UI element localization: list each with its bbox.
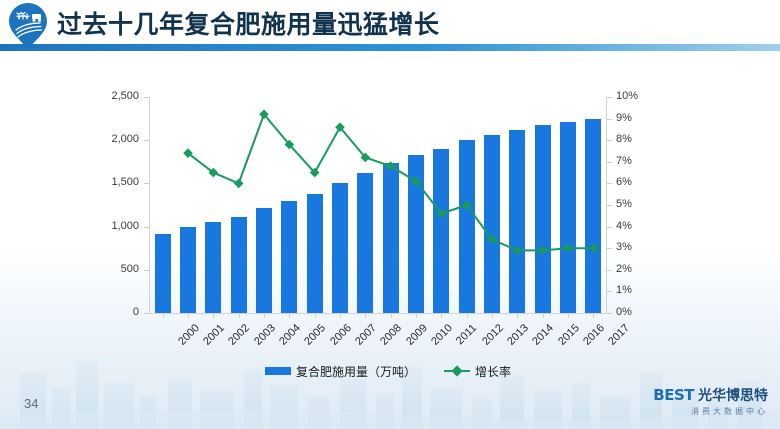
left-axis-tick — [144, 227, 149, 228]
right-axis-tick-label: 5% — [616, 198, 656, 210]
category-label-2014: 2014 — [530, 322, 556, 348]
brand-subtitle: 消费大数据中心 — [691, 406, 768, 417]
right-axis-tick-label: 0% — [616, 306, 656, 318]
right-axis-tick — [607, 291, 612, 292]
category-label-2001: 2001 — [201, 322, 227, 348]
category-label-2009: 2009 — [404, 322, 430, 348]
bar-2005 — [281, 201, 297, 313]
left-axis-tick — [144, 270, 149, 271]
category-label-2007: 2007 — [353, 322, 379, 348]
bar-2013 — [484, 135, 500, 313]
chart-plot-area: 05001,0001,5002,0002,500 0%1%2%3%4%5%6%7… — [88, 80, 688, 390]
right-axis-tick — [607, 227, 612, 228]
legend-label-volume: 复合肥施用量（万吨） — [296, 363, 416, 380]
category-tick — [492, 314, 493, 318]
category-tick — [467, 314, 468, 318]
category-tick — [593, 314, 594, 318]
left-axis-tick-label: 1,500 — [93, 176, 139, 188]
right-axis-tick — [607, 183, 612, 184]
right-axis-tick-label: 7% — [616, 155, 656, 167]
right-axis-tick — [607, 119, 612, 120]
bar-2002 — [205, 222, 221, 313]
right-axis-tick-label: 6% — [616, 176, 656, 188]
category-label-2002: 2002 — [226, 322, 252, 348]
left-axis-tick-label: 2,500 — [93, 90, 139, 102]
category-label-2008: 2008 — [378, 322, 404, 348]
category-tick — [391, 314, 392, 318]
page-title: 过去十几年复合肥施用量迅猛增长 — [57, 5, 440, 41]
bar-2003 — [231, 217, 247, 313]
right-axis-tick-label: 3% — [616, 241, 656, 253]
left-axis-tick-label: 0 — [93, 306, 139, 318]
left-axis-tick-label: 500 — [93, 263, 139, 275]
category-label-2000: 2000 — [176, 322, 202, 348]
right-axis-tick-label: 2% — [616, 263, 656, 275]
right-axis-tick — [607, 140, 612, 141]
right-axis-tick-label: 1% — [616, 284, 656, 296]
category-tick — [568, 314, 569, 318]
page-number: 34 — [24, 396, 38, 411]
bar-2001 — [180, 227, 196, 313]
legend-item-volume[interactable]: 复合肥施用量（万吨） — [265, 363, 416, 380]
bar-2007 — [332, 183, 348, 313]
right-axis-tick — [607, 270, 612, 271]
category-tick — [416, 314, 417, 318]
legend-label-growth-rate: 增长率 — [475, 363, 511, 380]
category-tick — [365, 314, 366, 318]
bar-2017 — [585, 119, 601, 313]
brand-logo: BEST 光华博思特 消费大数据中心 — [653, 385, 768, 417]
bar-2008 — [357, 173, 373, 313]
bar-swatch-icon — [265, 367, 291, 375]
bar-2000 — [155, 234, 171, 313]
category-label-2005: 2005 — [302, 322, 328, 348]
right-axis-tick-label: 10% — [616, 90, 656, 102]
left-axis-tick — [144, 183, 149, 184]
bar-2004 — [256, 208, 272, 313]
left-axis-tick-label: 1,000 — [93, 220, 139, 232]
category-tick — [289, 314, 290, 318]
category-label-2012: 2012 — [480, 322, 506, 348]
bar-2016 — [560, 122, 576, 313]
category-tick — [517, 314, 518, 318]
header-divider — [0, 44, 780, 51]
bar-series-layer — [150, 97, 606, 313]
category-label-2013: 2013 — [505, 322, 531, 348]
category-label-2010: 2010 — [429, 322, 455, 348]
category-label-2004: 2004 — [277, 322, 303, 348]
left-axis-tick-label: 2,000 — [93, 133, 139, 145]
category-tick — [543, 314, 544, 318]
bar-2015 — [535, 125, 551, 313]
chart-legend: 复合肥施用量（万吨） 增长率 — [88, 360, 688, 382]
category-tick — [188, 314, 189, 318]
right-axis-tick-label: 4% — [616, 220, 656, 232]
legend-item-growth-rate[interactable]: 增长率 — [444, 363, 511, 380]
brand-mark: BEST — [653, 386, 694, 404]
left-axis-tick — [144, 97, 149, 98]
category-label-2017: 2017 — [606, 322, 632, 348]
line-diamond-swatch-icon — [444, 367, 470, 375]
category-label-2003: 2003 — [252, 322, 278, 348]
category-tick — [264, 314, 265, 318]
left-axis-tick — [144, 313, 149, 314]
category-tick — [239, 314, 240, 318]
brand-name: 光华博思特 — [698, 385, 768, 405]
right-axis-tick — [607, 313, 612, 314]
slide-header: 过去十几年复合肥施用量迅猛增长 — [0, 0, 780, 52]
category-tick — [340, 314, 341, 318]
bar-2010 — [408, 155, 424, 313]
bar-2014 — [509, 130, 525, 313]
bar-2011 — [433, 149, 449, 313]
bar-2006 — [307, 194, 323, 313]
category-label-2006: 2006 — [328, 322, 354, 348]
right-axis-tick — [607, 248, 612, 249]
bar-2009 — [383, 163, 399, 313]
right-axis-tick — [607, 97, 612, 98]
category-axis-line — [149, 313, 607, 314]
right-axis-tick — [607, 162, 612, 163]
farm-location-pin-icon — [6, 2, 50, 50]
right-axis-tick-label: 8% — [616, 133, 656, 145]
category-tick — [315, 314, 316, 318]
category-tick — [213, 314, 214, 318]
slide-canvas: 过去十几年复合肥施用量迅猛增长 05001,0001,5002,0002,500… — [0, 0, 780, 429]
bar-2012 — [459, 140, 475, 313]
right-axis-tick-label: 9% — [616, 112, 656, 124]
category-label-2015: 2015 — [556, 322, 582, 348]
category-tick — [441, 314, 442, 318]
category-tick — [163, 314, 164, 318]
category-label-2016: 2016 — [581, 322, 607, 348]
category-label-2011: 2011 — [454, 322, 479, 347]
right-axis-tick — [607, 205, 612, 206]
left-axis-tick — [144, 140, 149, 141]
